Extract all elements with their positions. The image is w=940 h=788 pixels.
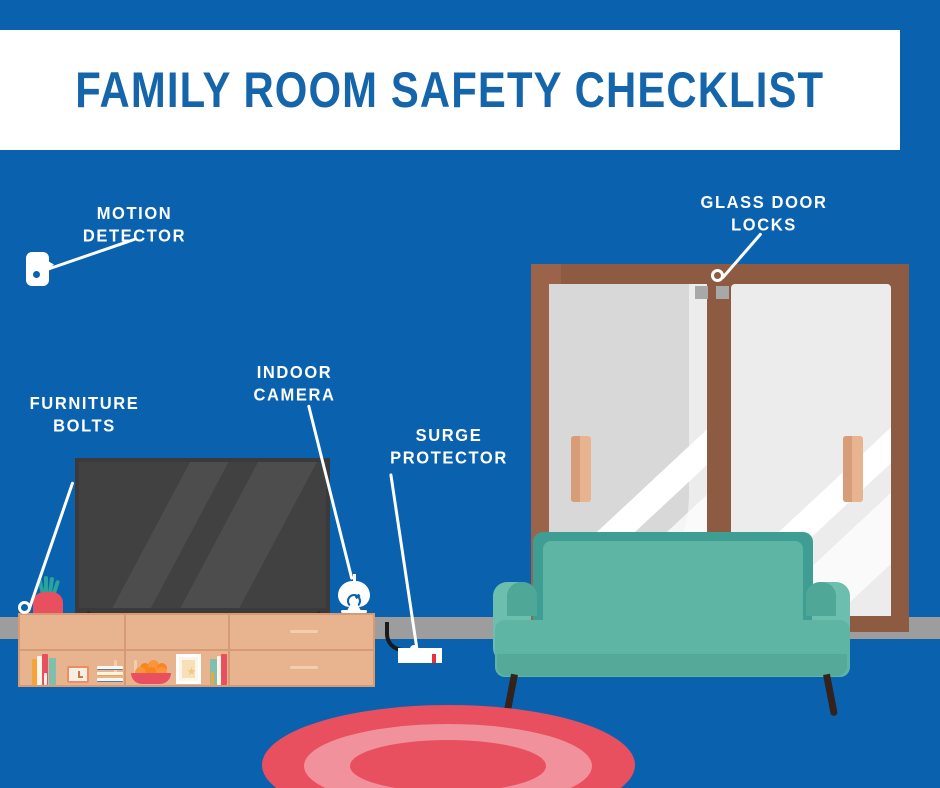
clock-hand bbox=[78, 676, 83, 678]
indoor-camera bbox=[338, 574, 370, 614]
stacked-book bbox=[97, 678, 123, 682]
book bbox=[221, 654, 227, 685]
picture-mat bbox=[182, 660, 195, 678]
stacked-book bbox=[97, 672, 123, 676]
callout-label-motion-detector: MOTION DETECTOR bbox=[62, 202, 207, 248]
sofa-armrest-shadow-right bbox=[806, 582, 836, 616]
sofa-leg-right bbox=[823, 674, 838, 717]
clock-icon bbox=[67, 666, 89, 683]
book-detail bbox=[44, 673, 47, 685]
drawer-handle-top[interactable] bbox=[290, 630, 318, 633]
glass-door-lock-icon[interactable] bbox=[716, 286, 729, 299]
infographic-canvas: FAMILY ROOM SAFETY CHECKLIST bbox=[0, 0, 940, 788]
area-rug bbox=[262, 705, 635, 788]
power-strip-body bbox=[398, 648, 442, 663]
door-handle-right[interactable] bbox=[843, 436, 863, 502]
marker-ring-furniture-bolts bbox=[18, 601, 31, 614]
credenza-shelf-middle bbox=[124, 613, 230, 651]
fruit-bowl bbox=[131, 673, 171, 684]
callout-label-surge-protector: SURGE PROTECTOR bbox=[375, 424, 523, 470]
marker-ring-glass-door-locks bbox=[711, 269, 724, 282]
credenza-shelf-left bbox=[18, 613, 126, 651]
sofa-armrest-shadow-left bbox=[507, 582, 537, 616]
callout-label-glass-door-locks: GLASS DOOR LOCKS bbox=[690, 191, 838, 237]
tv-screen bbox=[79, 462, 326, 608]
motion-detector-led-icon bbox=[33, 271, 40, 278]
camera-base bbox=[341, 610, 367, 613]
book-detail bbox=[211, 672, 214, 685]
rug-inner-ring bbox=[350, 740, 546, 788]
glass-door-lock-icon[interactable] bbox=[695, 286, 708, 299]
sofa bbox=[485, 532, 860, 722]
surge-protector bbox=[398, 645, 442, 667]
title-banner: FAMILY ROOM SAFETY CHECKLIST bbox=[0, 30, 900, 150]
book bbox=[49, 658, 56, 685]
door-handle-left[interactable] bbox=[571, 436, 591, 502]
drawer-handle-bottom[interactable] bbox=[290, 666, 318, 669]
framed-picture bbox=[176, 654, 201, 684]
stacked-book bbox=[97, 666, 123, 670]
callout-label-furniture-bolts: FURNITURE BOLTS bbox=[12, 392, 157, 438]
television bbox=[75, 458, 330, 616]
power-switch[interactable] bbox=[432, 654, 436, 663]
camera-body bbox=[338, 581, 370, 607]
sofa-seat-shadow bbox=[497, 654, 847, 676]
page-title: FAMILY ROOM SAFETY CHECKLIST bbox=[76, 61, 825, 119]
callout-label-indoor-camera: INDOOR CAMERA bbox=[222, 361, 367, 407]
motion-detector bbox=[26, 252, 49, 286]
tv-bezel bbox=[75, 458, 330, 616]
